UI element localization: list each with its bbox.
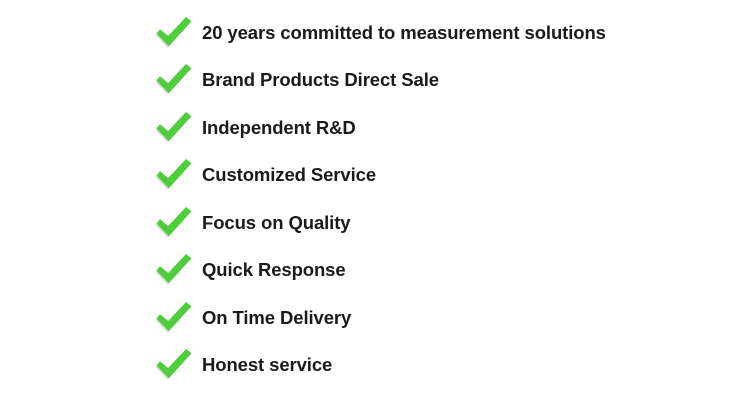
list-item-label: Independent R&D [202, 119, 750, 138]
list-item-label: Quick Response [202, 261, 750, 280]
list-item-label: Focus on Quality [202, 214, 750, 233]
check-mark-icon [155, 155, 193, 193]
check-mark-icon [155, 60, 193, 98]
list-item-label: Honest service [202, 356, 750, 375]
list-item: Focus on Quality [150, 199, 750, 247]
check-mark-icon [155, 13, 193, 51]
list-item-label: Brand Products Direct Sale [202, 71, 750, 90]
advantages-panel: 20 years committed to measurement soluti… [0, 0, 750, 416]
list-item: Quick Response [150, 247, 750, 295]
list-item-label: Customized Service [202, 166, 750, 185]
advantages-list: 20 years committed to measurement soluti… [150, 0, 750, 416]
list-item: Independent R&D [150, 104, 750, 152]
list-item: On Time Delivery [150, 294, 750, 342]
list-item: Brand Products Direct Sale [150, 57, 750, 105]
check-mark-icon [155, 108, 193, 146]
list-item: Customized Service [150, 152, 750, 200]
list-item: Honest service [150, 342, 750, 390]
check-mark-icon [155, 203, 193, 241]
list-item-label: 20 years committed to measurement soluti… [202, 24, 750, 43]
list-item: 20 years committed to measurement soluti… [150, 9, 750, 57]
check-mark-icon [155, 250, 193, 288]
check-mark-icon [155, 298, 193, 336]
check-mark-icon [155, 345, 193, 383]
list-item-label: On Time Delivery [202, 309, 750, 328]
